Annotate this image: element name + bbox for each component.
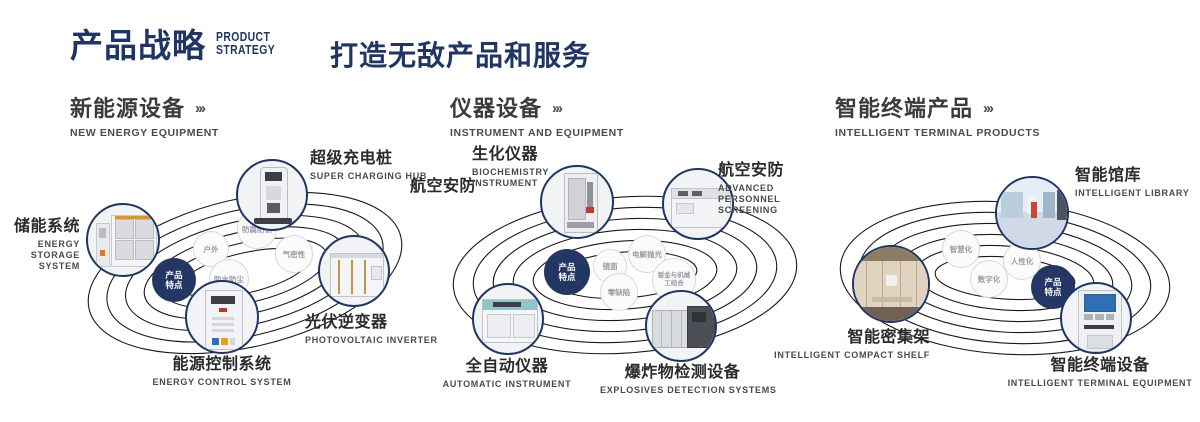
label-intelligent-compact-shelf: 智能密集架 INTELLIGENT COMPACT SHELF — [740, 328, 930, 361]
headline: 打造无敌产品和服务 — [330, 34, 591, 74]
self-service-kiosk-photo — [1062, 284, 1130, 352]
section-title-cn: 仪器设备 ››› — [450, 96, 624, 122]
label-en: INTELLIGENT TERMINAL EQUIPMENT — [1005, 378, 1195, 389]
label-cn: 智能密集架 — [740, 328, 930, 348]
section-title-text: 智能终端产品 — [835, 96, 973, 122]
feature-bubble: 零缺陷 — [600, 273, 638, 311]
section-title-en: INSTRUMENT AND EQUIPMENT — [450, 127, 624, 139]
page-title-en: PRODUCT STRATEGY — [216, 30, 275, 56]
section-title-cn: 新能源设备 ››› — [70, 96, 219, 122]
explosive-detector-photo — [647, 292, 715, 360]
label-automatic-instrument: 全自动仪器 AUTOMATIC INSTRUMENT — [422, 357, 592, 390]
inverter-cabinet-photo — [320, 237, 388, 305]
label-en: BIOCHEMISTRY INSTRUMENT — [472, 167, 530, 189]
page-title-en-line2: STRATEGY — [216, 43, 275, 56]
feature-bubble: 气密性 — [275, 235, 313, 273]
label-cn: 能源控制系统 — [92, 355, 352, 375]
label-cn: 爆炸物检测设备 — [600, 363, 765, 383]
node-energy-control-system[interactable] — [185, 280, 259, 354]
section-header-new-energy: 新能源设备 ››› NEW ENERGY EQUIPMENT — [70, 96, 219, 139]
label-cn: 航空安防 — [410, 177, 476, 197]
node-photovoltaic-inverter[interactable] — [318, 235, 390, 307]
node-super-charging-hub[interactable] — [236, 159, 308, 231]
automatic-analyzer-photo — [474, 285, 542, 353]
section-title-text: 仪器设备 — [450, 96, 542, 122]
feature-bubble: 智慧化 — [942, 230, 980, 268]
charging-pile-photo — [238, 161, 306, 229]
product-strategy-page: 产品战略 PRODUCT STRATEGY 打造无敌产品和服务 新能源设备 ››… — [0, 0, 1200, 422]
section-title-text: 新能源设备 — [70, 96, 185, 122]
core-bubble-line2: 特点 — [558, 272, 575, 282]
library-hall-photo — [997, 178, 1067, 248]
label-cn: 智能终端设备 — [1005, 356, 1195, 376]
cluster-intelligent-terminal: 产品 特点 智慧化 数字化 人性化 智能馆库 INTELLIGENT LIBRA… — [820, 160, 1200, 385]
control-cabinet-photo — [187, 282, 257, 352]
label-advanced-personnel-screening: 航空安防 ADVANCED PERSONNEL SCREENING — [718, 161, 813, 216]
core-bubble-line1: 产品 — [1044, 277, 1061, 287]
label-cn: 生化仪器 — [472, 145, 538, 165]
label-energy-storage: 储能系统 ENERGY STORAGE SYSTEM — [0, 217, 80, 272]
section-title-en: INTELLIGENT TERMINAL PRODUCTS — [835, 127, 1040, 139]
label-cn: 智能馆库 — [1075, 166, 1189, 186]
label-en: ADVANCED PERSONNEL SCREENING — [718, 183, 813, 216]
node-explosives-detection[interactable] — [645, 290, 717, 362]
label-cn: 航空安防 — [718, 161, 813, 181]
core-bubble: 产品 特点 — [545, 250, 589, 294]
label-cn: 超级充电桩 — [310, 149, 427, 169]
node-automatic-instrument[interactable] — [472, 283, 544, 355]
label-intelligent-library: 智能馆库 INTELLIGENT LIBRARY — [1075, 166, 1189, 199]
page-title: 产品战略 — [70, 26, 206, 66]
label-en: ENERGY STORAGE SYSTEM — [0, 239, 80, 272]
label-en: ENERGY CONTROL SYSTEM — [92, 377, 352, 388]
label-en: PHOTOVOLTAIC INVERTER — [305, 335, 438, 346]
label-en: INTELLIGENT COMPACT SHELF — [740, 350, 930, 361]
chevron-right-icon: ››› — [552, 96, 561, 122]
label-biochemistry-instrument: 生化仪器 BIOCHEMISTRY INSTRUMENT — [472, 145, 538, 189]
label-explosives-detection: 爆炸物检测设备 EXPLOSIVES DETECTION SYSTEMS — [600, 363, 765, 396]
battery-cabinet-photo — [88, 205, 158, 275]
node-intelligent-terminal-equipment[interactable] — [1060, 282, 1132, 354]
label-photovoltaic-inverter: 光伏逆变器 PHOTOVOLTAIC INVERTER — [305, 313, 438, 346]
section-title-en: NEW ENERGY EQUIPMENT — [70, 127, 219, 139]
label-cn: 储能系统 — [0, 217, 80, 237]
chevron-right-icon: ››› — [195, 96, 204, 122]
label-aviation-security-left: 航空安防 — [410, 177, 476, 197]
label-cn: 光伏逆变器 — [305, 313, 438, 333]
section-header-instrument: 仪器设备 ››› INSTRUMENT AND EQUIPMENT — [450, 96, 624, 139]
section-title-cn: 智能终端产品 ››› — [835, 96, 1040, 122]
compact-shelf-photo — [854, 247, 928, 321]
core-bubble-line1: 产品 — [558, 262, 575, 272]
label-cn: 全自动仪器 — [422, 357, 592, 377]
chevron-right-icon: ››› — [983, 96, 992, 122]
page-header: 产品战略 PRODUCT STRATEGY — [70, 26, 290, 66]
node-energy-storage[interactable] — [86, 203, 160, 277]
node-biochemistry-instrument[interactable] — [540, 165, 614, 239]
label-en: EXPLOSIVES DETECTION SYSTEMS — [600, 385, 765, 396]
label-en: INTELLIGENT LIBRARY — [1075, 188, 1189, 199]
section-header-intelligent-terminal: 智能终端产品 ››› INTELLIGENT TERMINAL PRODUCTS — [835, 96, 1040, 139]
feature-bubble: 数字化 — [970, 260, 1008, 298]
label-en: AUTOMATIC INSTRUMENT — [422, 379, 592, 390]
biochem-scanner-photo — [542, 167, 612, 237]
core-bubble-line1: 产品 — [165, 270, 182, 280]
core-bubble-line2: 特点 — [165, 280, 182, 290]
node-intelligent-compact-shelf[interactable] — [852, 245, 930, 323]
label-energy-control-system: 能源控制系统 ENERGY CONTROL SYSTEM — [92, 355, 352, 388]
cluster-new-energy: 产品 特点 户外 防腐防锈 防水防尘 气密性 — [60, 155, 430, 385]
node-intelligent-library[interactable] — [995, 176, 1069, 250]
core-bubble-line2: 特点 — [1044, 287, 1061, 297]
label-intelligent-terminal-equipment: 智能终端设备 INTELLIGENT TERMINAL EQUIPMENT — [1005, 356, 1195, 389]
